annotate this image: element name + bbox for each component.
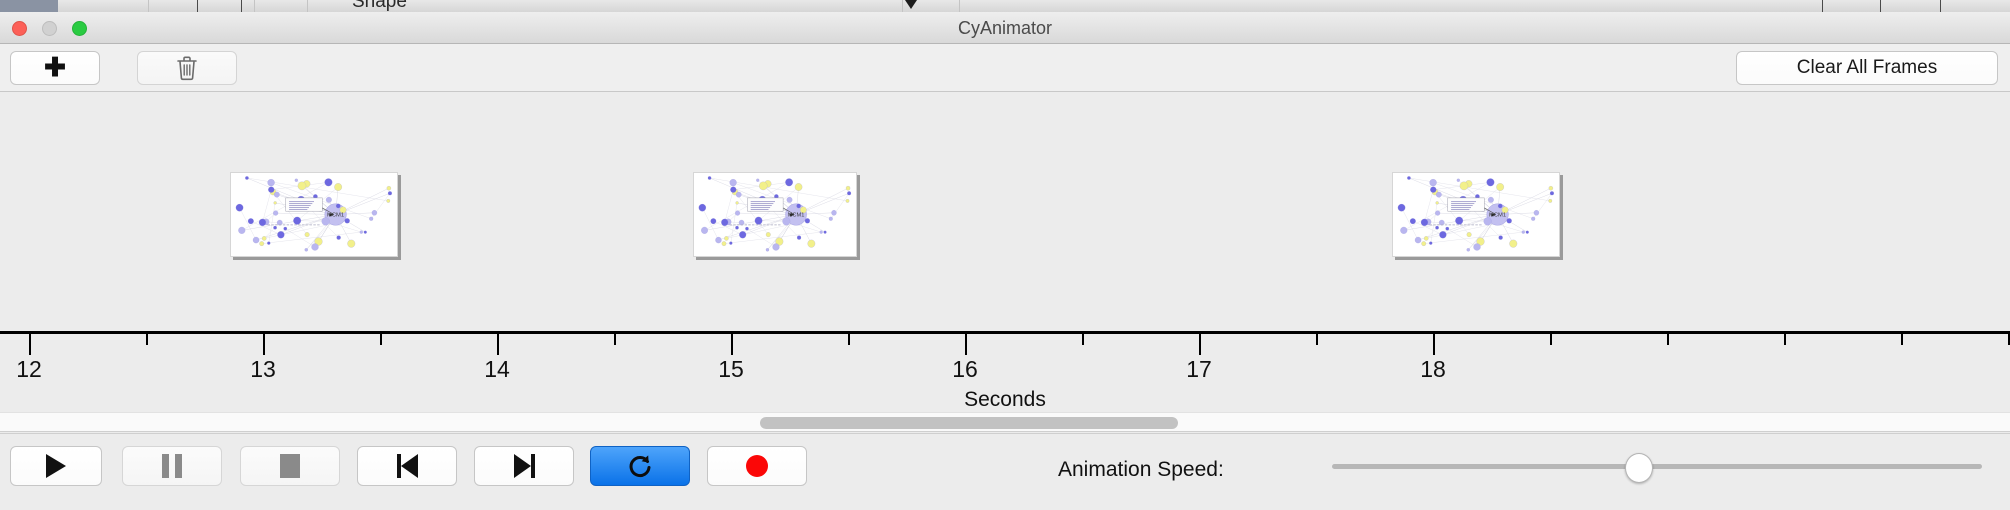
timeline-scrollbar[interactable] <box>0 412 2010 432</box>
axis-tick-label: 13 <box>250 356 276 383</box>
axis-tick-label: 12 <box>16 356 42 383</box>
timeline-axis <box>0 331 2010 334</box>
cyanimator-window: Shape CyAnimator ✚ Clear All Frames <box>0 0 2010 510</box>
slider-thumb[interactable] <box>1625 453 1653 483</box>
timeline-frame[interactable]: MCM1 <box>693 172 857 257</box>
loop-button[interactable] <box>590 446 690 486</box>
axis-tick-label: 14 <box>484 356 510 383</box>
background-window-divider <box>197 0 198 12</box>
add-frame-button[interactable]: ✚ <box>10 51 100 85</box>
skip-forward-icon <box>514 454 535 478</box>
plus-icon: ✚ <box>44 54 66 80</box>
pause-button <box>122 446 222 486</box>
clear-all-frames-button[interactable]: Clear All Frames <box>1736 51 1998 85</box>
timeline-frame[interactable]: MCM1 <box>230 172 398 257</box>
axis-tick-minor <box>1082 334 1084 345</box>
window-title: CyAnimator <box>0 12 2010 44</box>
skip-start-button[interactable] <box>357 446 457 486</box>
axis-tick-major <box>1199 334 1201 355</box>
axis-tick-label: 15 <box>718 356 744 383</box>
axis-tick-minor <box>1784 334 1786 345</box>
clear-all-frames-label: Clear All Frames <box>1797 57 1937 79</box>
animation-speed-label: Animation Speed: <box>1058 458 1224 482</box>
axis-tick-major <box>263 334 265 355</box>
delete-frame-button[interactable] <box>137 51 237 85</box>
timeline-frame[interactable]: MCM1 <box>1392 172 1560 257</box>
toolbar: ✚ Clear All Frames <box>0 44 2010 92</box>
background-window-segment <box>255 0 308 12</box>
playback-bar: Animation Speed: <box>0 433 2010 510</box>
stop-icon <box>280 454 300 478</box>
axis-tick-major <box>497 334 499 355</box>
axis-tick-major <box>731 334 733 355</box>
axis-tick-major <box>29 334 31 355</box>
pause-icon <box>162 454 182 478</box>
axis-tick-major <box>1433 334 1435 355</box>
axis-tick-minor <box>1550 334 1552 345</box>
axis-title: Seconds <box>0 388 2010 412</box>
background-window-segment <box>149 0 198 12</box>
background-window-divider <box>1940 0 1941 12</box>
loop-icon <box>626 452 654 480</box>
background-window-segment <box>58 0 149 12</box>
record-icon <box>746 455 768 477</box>
axis-tick-major <box>965 334 967 355</box>
background-window-segment <box>198 0 255 12</box>
axis-tick-minor <box>848 334 850 345</box>
play-icon <box>46 454 66 478</box>
svg-text:MCM1: MCM1 <box>788 213 805 219</box>
animation-speed-slider[interactable] <box>1332 446 1982 486</box>
record-button[interactable] <box>707 446 807 486</box>
axis-tick-minor <box>1316 334 1318 345</box>
background-window-divider <box>241 0 242 12</box>
axis-tick-minor <box>146 334 148 345</box>
background-window-divider <box>1880 0 1881 12</box>
background-window-selected-tab <box>0 0 58 12</box>
axis-tick-minor <box>380 334 382 345</box>
axis-tick-minor <box>614 334 616 345</box>
axis-tick-minor <box>1667 334 1669 345</box>
background-window-notch-icon <box>905 0 917 9</box>
skip-back-icon <box>397 454 418 478</box>
play-button[interactable] <box>10 446 102 486</box>
title-bar: CyAnimator <box>0 12 2010 44</box>
background-window-divider <box>1822 0 1823 12</box>
axis-tick-minor <box>1901 334 1903 345</box>
stop-button <box>240 446 340 486</box>
timeline-scrollbar-thumb[interactable] <box>760 417 1178 429</box>
axis-tick-label: 18 <box>1420 356 1446 383</box>
skip-end-button[interactable] <box>474 446 574 486</box>
timeline-panel[interactable]: MCM1 MCM1 MCM1 12131415161718 Seconds <box>0 92 2010 412</box>
slider-track <box>1332 464 1982 469</box>
axis-tick-label: 17 <box>1186 356 1212 383</box>
trash-icon <box>176 55 198 81</box>
svg-text:MCM1: MCM1 <box>1489 213 1506 219</box>
background-window-segment <box>960 0 2010 12</box>
axis-tick-label: 16 <box>952 356 978 383</box>
svg-text:MCM1: MCM1 <box>327 213 344 219</box>
